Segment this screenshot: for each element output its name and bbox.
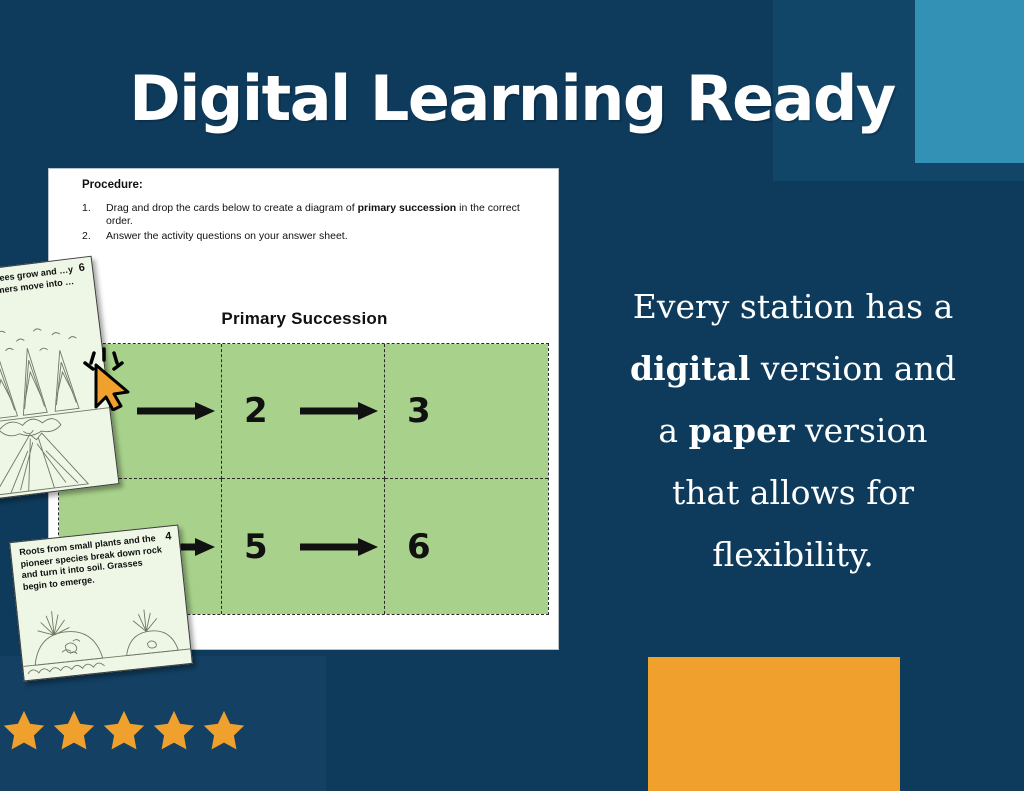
copy-line-4: that allows for <box>578 462 1008 524</box>
star-icon <box>152 708 196 752</box>
copy-line-5-text: flexibility. <box>712 535 874 574</box>
slide-title: Digital Learning Ready <box>0 62 1024 135</box>
arrow-icon-5 <box>300 537 378 557</box>
procedure-step-1: 1. Drag and drop the cards below to crea… <box>82 202 522 228</box>
right-copy-paragraph: Every station has a digital version and … <box>578 276 1008 586</box>
copy-bold-paper: paper <box>689 411 795 450</box>
star-icon <box>52 708 96 752</box>
copy-bold-digital: digital <box>630 349 750 388</box>
card-4-number: 4 <box>165 530 172 543</box>
diagram-title: Primary Succession <box>49 309 560 329</box>
drop-cell-6[interactable]: 6 <box>385 479 548 614</box>
drop-cell-6-digit: 6 <box>407 527 431 567</box>
copy-line-3-lead: a <box>658 411 688 450</box>
step-2-text-before: Answer the activity questions on your an… <box>106 230 348 242</box>
drop-cell-5-digit: 5 <box>244 527 268 567</box>
copy-line-2: digital version and <box>578 338 1008 400</box>
drop-cell-2-digit: 2 <box>244 391 268 431</box>
step-1-text-bold: primary succession <box>358 202 457 214</box>
slide-canvas: Digital Learning Ready Every station has… <box>0 0 1024 791</box>
step-2-number: 2. <box>82 230 106 243</box>
card-6-text: …ate trees grow and …y consumers move in… <box>0 263 86 311</box>
procedure-heading: Procedure: <box>82 179 143 191</box>
copy-line-3: a paper version <box>578 400 1008 462</box>
copy-line-3-rest: version <box>795 411 928 450</box>
drop-cell-2[interactable]: 2 <box>222 344 385 479</box>
arrow-icon-1 <box>137 401 215 421</box>
copy-line-4-text: that allows for <box>672 473 914 512</box>
step-1-number: 1. <box>82 202 106 228</box>
star-icon <box>102 708 146 752</box>
drop-cell-3-digit: 3 <box>407 391 431 431</box>
rocks-with-grasses-illustration <box>17 587 193 680</box>
succession-card-4[interactable]: 4 Roots from small plants and the pionee… <box>9 524 193 681</box>
arrow-icon-2 <box>300 401 378 421</box>
procedure-step-list: 1. Drag and drop the cards below to crea… <box>82 202 522 245</box>
pointer-arrow-click-icon <box>80 347 142 411</box>
copy-line-1-text: Every station has a <box>633 287 954 326</box>
star-icon <box>2 708 46 752</box>
copy-line-5: flexibility. <box>578 524 1008 586</box>
procedure-step-2: 2. Answer the activity questions on your… <box>82 230 522 243</box>
step-1-text: Drag and drop the cards below to create … <box>106 202 522 228</box>
copy-line-1: Every station has a <box>578 276 1008 338</box>
drop-cell-5[interactable]: 5 <box>222 479 385 614</box>
decor-block-orange <box>648 657 900 791</box>
copy-line-2-rest: version and <box>750 349 956 388</box>
star-icon <box>202 708 246 752</box>
step-1-text-before: Drag and drop the cards below to create … <box>106 202 358 214</box>
step-2-text: Answer the activity questions on your an… <box>106 230 522 243</box>
card-4-text: Roots from small plants and the pioneer … <box>19 532 168 593</box>
rating-stars <box>2 708 252 758</box>
drop-cell-3[interactable]: 3 <box>385 344 548 479</box>
